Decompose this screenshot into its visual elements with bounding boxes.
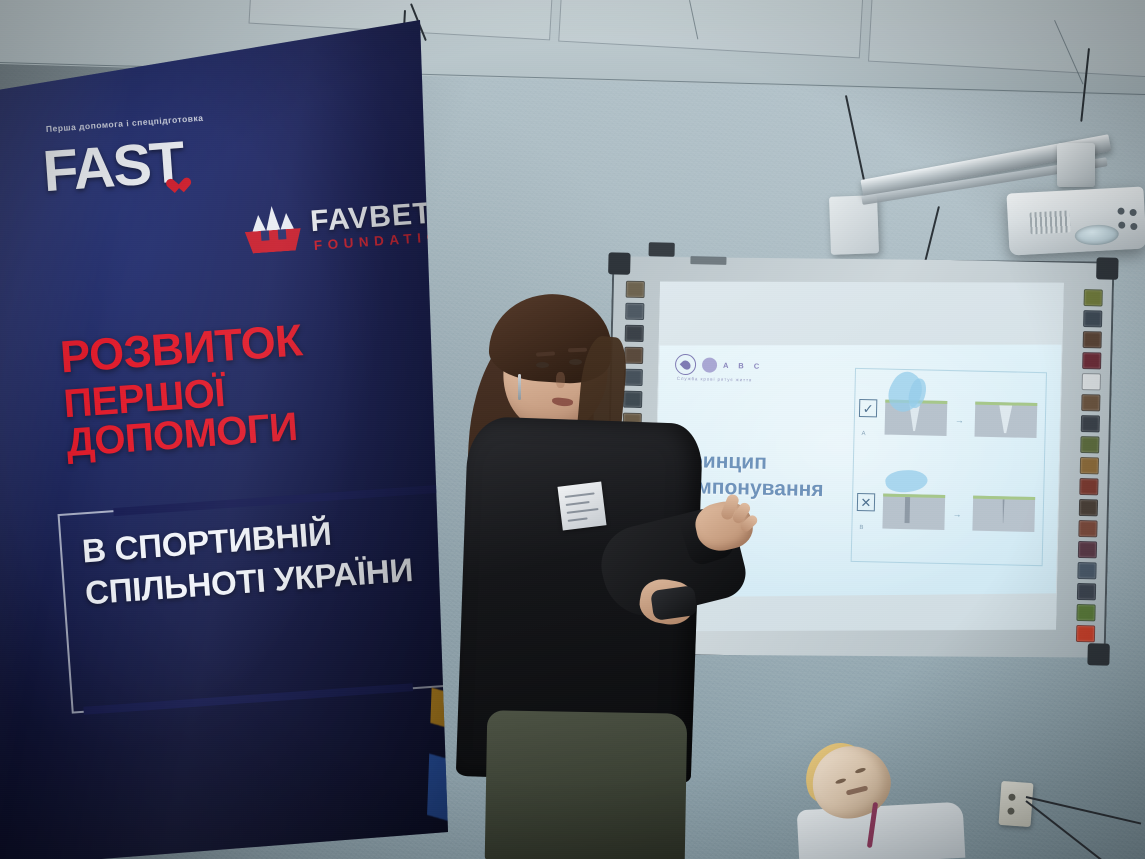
whiteboard-right-tool-16-icon[interactable] [1076,604,1095,621]
ceiling-projector [1006,186,1145,255]
wound-packing-diagram: ✓ A → ✕ B [851,368,1047,566]
whiteboard-right-tool-6-icon[interactable] [1081,394,1100,411]
whiteboard-right-tool-13-icon[interactable] [1078,541,1097,558]
whiteboard-right-tool-2-icon[interactable] [1083,310,1102,327]
whiteboard-right-tool-8-icon[interactable] [1080,436,1099,453]
classroom-photo: Перша допомога і спецпідготовка FAST FAV… [0,0,1145,859]
whiteboard-right-tool-7-icon[interactable] [1081,415,1100,432]
projector-lens [1074,224,1119,246]
whiteboard-right-tool-9-icon[interactable] [1080,457,1099,474]
roll-up-banner: Перша допомога і спецпідготовка FAST FAV… [0,20,448,859]
whiteboard-right-tool-12-icon[interactable] [1078,520,1097,537]
earring [518,374,521,400]
whiteboard-right-tool-11-icon[interactable] [1079,499,1098,516]
whiteboard-right-tool-15-icon[interactable] [1077,583,1096,600]
presenter-eye-right [569,359,582,365]
whiteboard-right-tool-1-icon[interactable] [1084,289,1103,306]
diagram-arrow: → [955,415,964,425]
diagram-label-b: B [859,525,863,531]
whiteboard-right-tool-10-icon[interactable] [1079,478,1098,495]
projector-vent [1029,210,1070,234]
whiteboard-right-tool-5-icon[interactable] [1082,373,1101,390]
whiteboard-right-tool-3-icon[interactable] [1083,331,1102,348]
cpr-training-manikin [798,744,968,859]
projector-mount-joint [1057,143,1095,187]
whiteboard-right-tool-17-icon[interactable] [1076,625,1095,642]
diagram-label-a: A [861,431,865,437]
presenter-nose [556,372,565,388]
banner-vignette [0,20,448,859]
whiteboard-right-tool-4-icon[interactable] [1082,352,1101,369]
presenter [452,280,782,859]
manikin-torso [797,802,966,859]
presenter-trousers [485,710,688,859]
whiteboard-top-clip [649,242,675,257]
projector-wall-plate [829,195,879,255]
whiteboard-right-tool-14-icon[interactable] [1077,562,1096,579]
presenter-eye-left [536,362,549,368]
presentation-clicker[interactable] [650,585,698,621]
whiteboard-brand-label [690,256,726,265]
checkmark-icon: ✓ [859,399,877,417]
name-badge [557,481,606,530]
cross-icon: ✕ [857,493,875,511]
